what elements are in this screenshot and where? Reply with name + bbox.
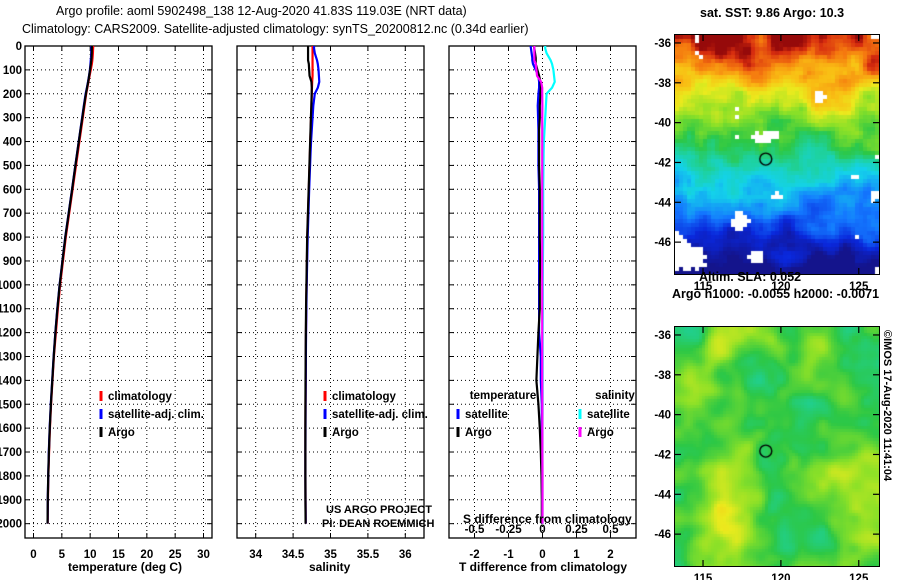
sla-lat-tick-label: -42: [654, 449, 671, 461]
sla-lon-tick-label: 120: [771, 573, 790, 580]
map-axes-svg: 115120125-36-38-40-42-44-46115120125-36-…: [0, 0, 900, 580]
sst-lat-tick-label: -46: [654, 237, 671, 249]
sla-lat-tick-label: -44: [654, 489, 671, 501]
sst-lon-tick-label: 120: [771, 281, 790, 293]
map-axes: 115120125-36-38-40-42-44-46115120125-36-…: [0, 0, 900, 580]
sla-lon-tick-label: 115: [694, 573, 713, 580]
sla-lon-tick-label: 125: [849, 573, 869, 580]
sst-lat-tick-label: -44: [654, 197, 671, 209]
sla-lat-tick-label: -36: [654, 330, 671, 342]
sst-lat-tick-label: -42: [654, 157, 671, 169]
sla-lat-tick-label: -46: [654, 529, 671, 541]
sla-lat-tick-label: -40: [654, 410, 671, 422]
sla-lat-tick-label: -38: [654, 370, 671, 382]
sst-lon-tick-label: 115: [694, 281, 713, 293]
sst-lat-tick-label: -40: [654, 118, 671, 130]
sst-lon-tick-label: 125: [849, 281, 869, 293]
imos-credit: ©IMOS 17-Aug-2020 11:41:04: [881, 330, 893, 481]
sst-lat-tick-label: -36: [654, 38, 671, 50]
sst-lat-tick-label: -38: [654, 78, 671, 90]
